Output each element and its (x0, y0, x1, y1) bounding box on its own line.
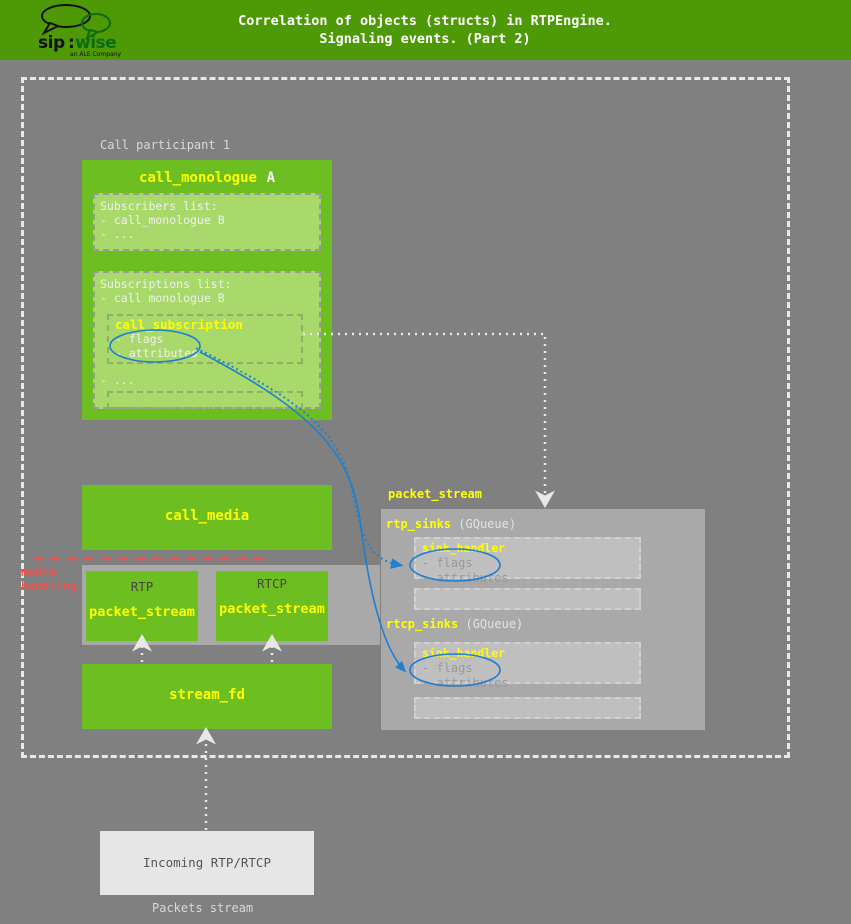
rtcp-struct-label: packet_stream (216, 601, 328, 617)
subscriptions-heading: Subscriptions list: (100, 277, 314, 291)
rtcp-sink-handler-attributes: - attributes (422, 676, 509, 691)
rtcp-sink-handler-item: sink_handler - flags - attributes (414, 642, 641, 684)
rtp-sink-handler-title: sink_handler (422, 541, 505, 555)
subscriptions-entry: - call monologue B (100, 291, 314, 305)
svg-text:wise: wise (75, 33, 116, 53)
call-subscription-flags: - flags (115, 332, 295, 346)
stream-fd-title: stream_fd (82, 687, 332, 703)
page-header: sip : wise an ALE Company Correlation of… (0, 0, 851, 60)
stream-fd-box: stream_fd (82, 664, 332, 729)
svg-text:an ALE Company: an ALE Company (70, 51, 122, 58)
svg-text::: : (68, 33, 75, 53)
incoming-rtp-rtcp-label: Incoming RTP/RTCP (100, 855, 314, 870)
incoming-rtp-rtcp-box: Incoming RTP/RTCP (100, 831, 314, 895)
rtcp-sink-handler-title: sink_handler (422, 646, 505, 660)
call-subscription-title: call_subscription (115, 318, 295, 332)
call-monologue-a-title: call_monologue A (82, 167, 332, 186)
svg-text:sip: sip (38, 33, 65, 53)
call-monologue-a-box: call_monologue A Subscribers list: - cal… (82, 160, 332, 420)
subscriptions-ellipsis: - ... (100, 373, 135, 387)
call-monologue-a-suffix: A (267, 170, 275, 186)
subscribers-item-1: - ... (100, 227, 314, 241)
subscribers-heading: Subscribers list: (100, 199, 314, 213)
page-title: Correlation of objects (structs) in RTPE… (150, 0, 700, 60)
rtp-sink-handler-item: sink_handler - flags - attributes (414, 537, 641, 579)
packet-stream-caption: packet_stream (388, 487, 482, 501)
call-media-box: call_media (82, 485, 332, 550)
media-handling-line-1: media (21, 565, 83, 579)
rtp-struct-label: packet_stream (86, 604, 198, 620)
rtp-packet-stream-box: RTP packet_stream (86, 571, 198, 641)
title-line-1: Correlation of objects (structs) in RTPE… (238, 12, 612, 30)
subscriptions-placeholder-box (107, 391, 303, 409)
rtp-sink-handler-attributes: - attributes (422, 571, 509, 586)
rtp-sink-handler-flags: - flags (422, 556, 473, 571)
call-media-title: call_media (82, 508, 332, 524)
title-line-2: Signaling events. (Part 2) (319, 30, 530, 48)
rtcp-proto-label: RTCP (216, 576, 328, 591)
rtcp-sinks-label: rtcp_sinks (GQueue) (386, 617, 523, 631)
packets-stream-caption: Packets stream (152, 901, 253, 915)
sipwise-logo: sip : wise an ALE Company (30, 4, 130, 58)
subscriptions-list-box: Subscriptions list: - call monologue B c… (93, 271, 321, 409)
rtp-proto-label: RTP (86, 579, 198, 594)
call-subscription-attributes: - attributes (115, 346, 295, 360)
call-participant-label: Call participant 1 (100, 138, 230, 152)
rtcp-sink-handler-flags: - flags (422, 661, 473, 676)
logo-graphic: sip : wise an ALE Company (30, 4, 130, 58)
call-subscription-box: call_subscription - flags - attributes (107, 314, 303, 364)
media-handling-label: media handling (21, 565, 83, 593)
rtcp-sink-handler-item-empty (414, 697, 641, 719)
packet-stream-panel: rtp_sinks (GQueue) sink_handler - flags … (381, 509, 705, 730)
call-monologue-a-title-text: call_monologue (139, 170, 257, 186)
media-handling-line-2: handling (21, 579, 83, 593)
subscribers-item-0: - call_monologue B (100, 213, 314, 227)
rtcp-sinks-name: rtcp_sinks (386, 617, 458, 631)
rtcp-packet-stream-box: RTCP packet_stream (216, 571, 328, 641)
rtp-sinks-name: rtp_sinks (386, 517, 451, 531)
rtp-sinks-label: rtp_sinks (GQueue) (386, 517, 516, 531)
rtp-sinks-type: (GQueue) (458, 517, 516, 531)
subscribers-list-box: Subscribers list: - call_monologue B - .… (93, 193, 321, 251)
rtcp-sinks-type: (GQueue) (465, 617, 523, 631)
rtp-sink-handler-item-empty (414, 588, 641, 610)
